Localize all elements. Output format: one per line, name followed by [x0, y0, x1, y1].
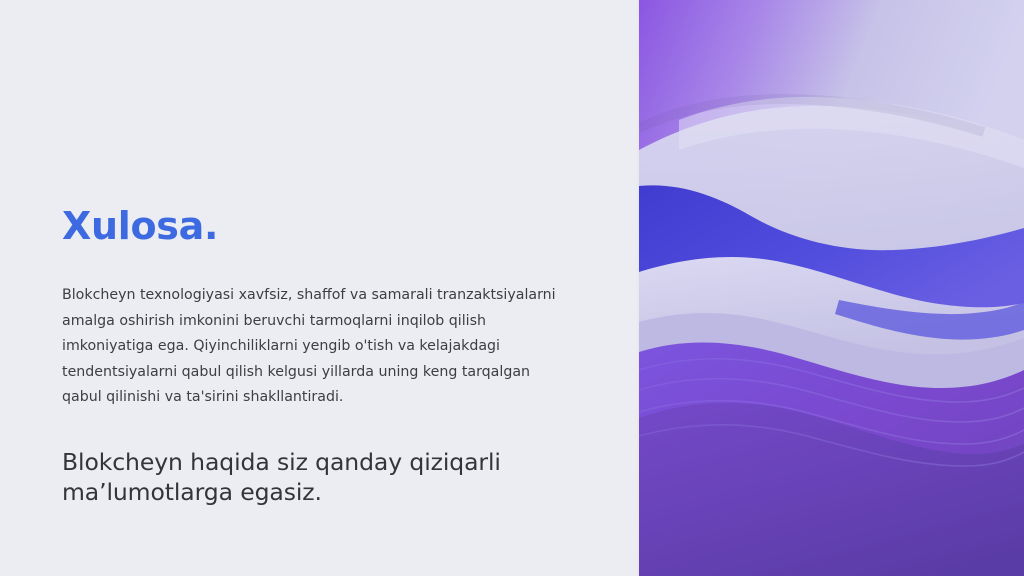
slide-content-column: Xulosa. Blokcheyn texnologiyasi xavfsiz,…	[0, 0, 638, 576]
body-paragraph: Blokcheyn texnologiyasi xavfsiz, shaffof…	[62, 283, 574, 411]
closing-question-text: Blokcheyn haqida siz qanday qiziqarli ma…	[62, 447, 582, 507]
page-title: Xulosa.	[62, 205, 218, 248]
abstract-waves-svg	[639, 0, 1024, 576]
slide-root: Xulosa. Blokcheyn texnologiyasi xavfsiz,…	[0, 0, 1024, 576]
abstract-waves-image	[639, 0, 1024, 576]
